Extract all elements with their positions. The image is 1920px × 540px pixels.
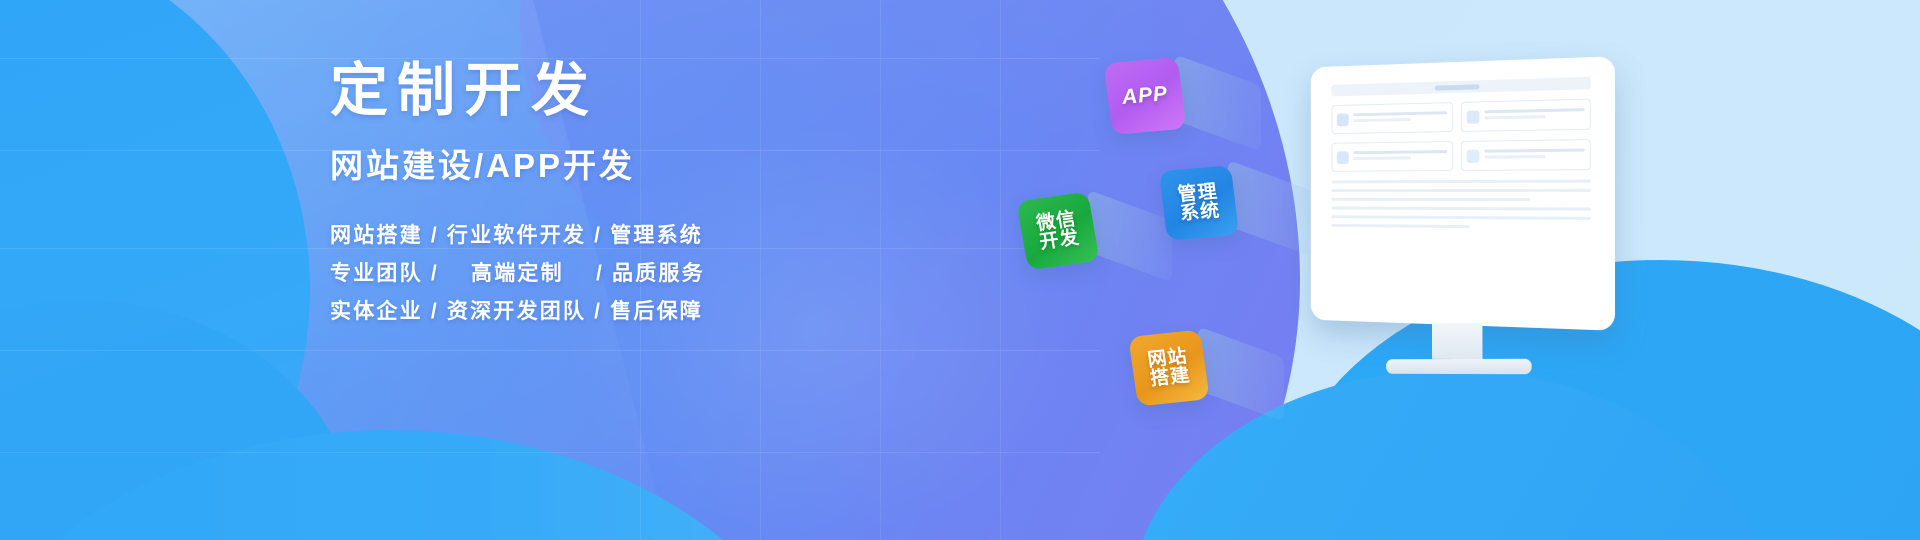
service-card-group: APP 管理 系统 微信 开发 网站 搭建 [0,0,1920,540]
service-card-site-label-2: 搭建 [1149,366,1192,389]
screen-card-row-1 [1331,99,1590,135]
screen-topbar [1331,77,1590,97]
screen-card-icon [1337,113,1349,126]
service-card-app-label: APP [1121,83,1170,108]
card-shadow-wechat [1088,190,1172,283]
card-shadow-site [1198,326,1284,421]
screen-card [1460,99,1590,132]
screen-card-row-2 [1331,139,1590,172]
card-shadow-app [1175,54,1261,151]
screen-card-lines [1353,111,1447,125]
service-card-app[interactable]: APP [1104,57,1187,135]
service-card-management-system[interactable]: 管理 系统 [1159,165,1239,241]
service-card-mgmt-label-2: 系统 [1179,201,1221,224]
monitor-illustration [1300,62,1613,374]
monitor-stand-neck [1431,323,1481,359]
screen-text-block [1331,179,1590,229]
promo-banner: 定制开发 网站建设/APP开发 网站搭建 / 行业软件开发 / 管理系统 专业团… [0,0,1920,540]
screen-card-lines [1353,150,1447,163]
service-card-wechat-label-2: 开发 [1038,228,1081,253]
screen-card-lines [1484,148,1585,161]
screen-card-icon [1337,151,1349,164]
screen-card-icon [1466,149,1479,162]
screen-card [1331,102,1452,134]
monitor-frame [1311,56,1615,331]
screen-card [1331,141,1452,172]
screen-card-icon [1466,110,1479,123]
screen-card-lines [1484,108,1585,122]
service-card-wechat-development[interactable]: 微信 开发 [1016,192,1099,271]
service-card-website-build[interactable]: 网站 搭建 [1128,330,1209,407]
monitor-screen [1319,66,1606,321]
screen-card [1460,139,1590,171]
monitor-stand-base [1386,359,1532,374]
screen-topbar-pill [1434,84,1479,90]
